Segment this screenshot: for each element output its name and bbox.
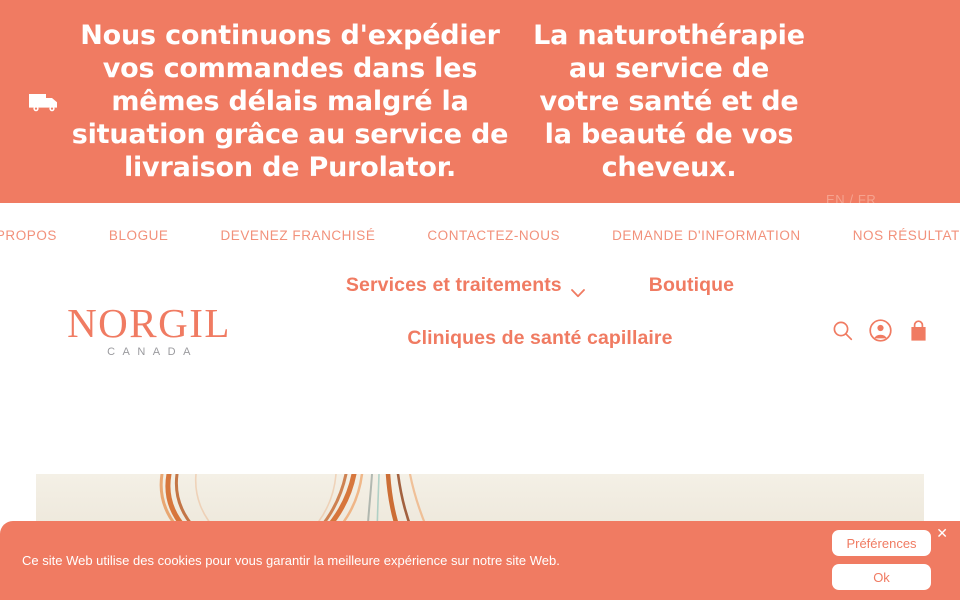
nav-item-services-et-traitements[interactable]: Services et traitements bbox=[346, 274, 585, 297]
delivery-truck-icon bbox=[22, 82, 68, 122]
header-actions bbox=[830, 317, 930, 343]
main-nav: Services et traitements Boutique Cliniqu… bbox=[270, 274, 810, 350]
utility-link-devenez-franchise[interactable]: DEVENEZ FRANCHISÉ bbox=[195, 228, 402, 243]
cookie-preferences-button[interactable]: Préférences bbox=[832, 530, 931, 556]
nav-item-label: Services et traitements bbox=[346, 274, 562, 297]
utility-link-a-propos[interactable]: À PROPOS bbox=[0, 228, 83, 243]
main-nav-row-2: Cliniques de santé capillaire bbox=[270, 327, 810, 350]
site-header: NORGIL CANADA Services et traitements Bo… bbox=[0, 262, 960, 407]
close-icon[interactable]: ✕ bbox=[934, 524, 950, 542]
main-nav-row-1: Services et traitements Boutique bbox=[270, 274, 810, 297]
utility-link-nos-resultats[interactable]: NOS RÉSULTATS ! bbox=[827, 228, 960, 243]
nav-item-label: Boutique bbox=[649, 274, 734, 297]
cart-bag-icon[interactable] bbox=[906, 317, 930, 343]
search-icon[interactable] bbox=[830, 317, 854, 343]
promo-banner: Nous continuons d'expédier vos commandes… bbox=[0, 0, 960, 203]
logo-tagline: CANADA bbox=[45, 344, 253, 360]
cookie-message: Ce site Web utilise des cookies pour vou… bbox=[22, 552, 560, 570]
utility-nav: À PROPOS BLOGUE DEVENEZ FRANCHISÉ CONTAC… bbox=[0, 219, 960, 251]
nav-item-boutique[interactable]: Boutique bbox=[649, 274, 734, 297]
logo-wordmark: NORGIL bbox=[45, 302, 253, 344]
cookie-actions: Préférences Ok bbox=[832, 530, 931, 590]
utility-link-blogue[interactable]: BLOGUE bbox=[83, 228, 195, 243]
promo-slide-2: La naturothérapie au service de votre sa… bbox=[526, 19, 812, 184]
account-icon[interactable] bbox=[868, 317, 892, 343]
promo-slide-1: Nous continuons d'expédier vos commandes… bbox=[68, 19, 512, 184]
cookie-ok-button[interactable]: Ok bbox=[832, 564, 931, 590]
nav-item-cliniques-de-sante-capillaire[interactable]: Cliniques de santé capillaire bbox=[407, 327, 672, 350]
site-logo[interactable]: NORGIL CANADA bbox=[45, 302, 253, 360]
utility-link-demande-information[interactable]: DEMANDE D'INFORMATION bbox=[586, 228, 827, 243]
language-switcher-clipped[interactable]: EN / FR bbox=[826, 192, 876, 203]
cookie-consent-bar: Ce site Web utilise des cookies pour vou… bbox=[0, 521, 960, 600]
promo-slides: Nous continuons d'expédier vos commandes… bbox=[68, 19, 960, 184]
utility-link-contactez-nous[interactable]: CONTACTEZ-NOUS bbox=[401, 228, 586, 243]
nav-item-label: Cliniques de santé capillaire bbox=[407, 327, 672, 350]
chevron-down-icon bbox=[571, 281, 585, 290]
page-root: Nous continuons d'expédier vos commandes… bbox=[0, 0, 960, 600]
